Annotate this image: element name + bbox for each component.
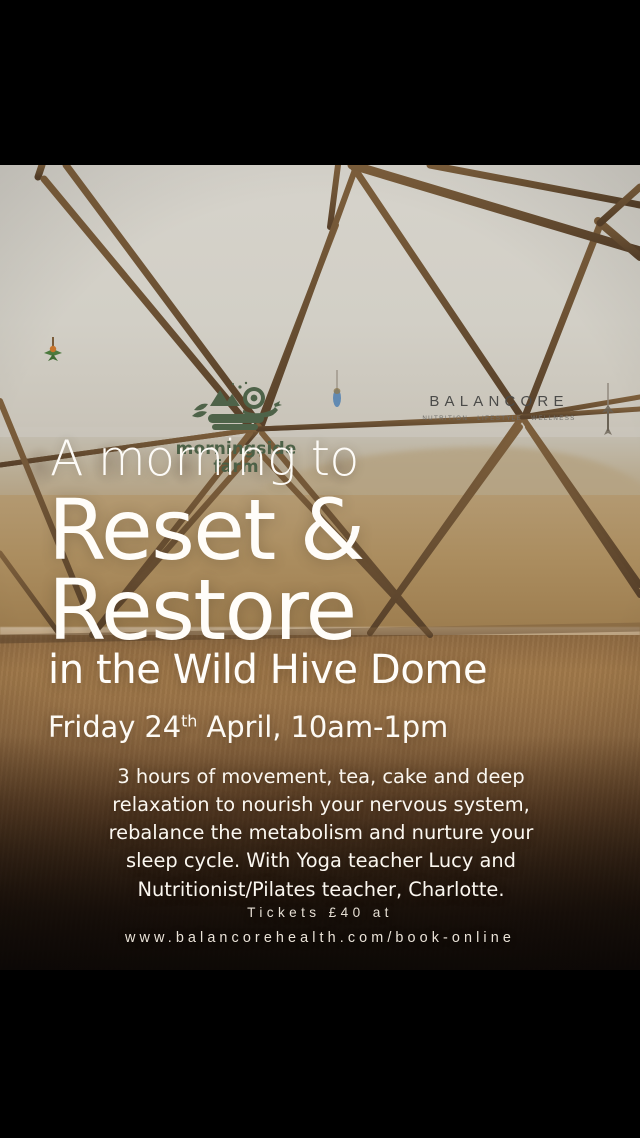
headline-kicker: A morning to <box>50 434 359 483</box>
tickets-price-line: Tickets £40 at <box>0 905 640 920</box>
date-ordinal: th <box>181 711 197 730</box>
letterbox-bar-bottom <box>0 970 640 1138</box>
balancore-tagline-item-2: WELLNESS <box>531 415 576 422</box>
snail-mountains-log-icon <box>184 380 288 436</box>
headline-line-1: Reset & <box>48 492 364 569</box>
headline-line-2: Restore <box>48 572 356 649</box>
balancore-tagline-item-1: LIFESTYLE <box>477 415 522 422</box>
event-description: 3 hours of movement, tea, cake and deep … <box>108 763 534 904</box>
booking-url[interactable]: www.balancorehealth.com/book-online <box>0 930 640 946</box>
dark-hanging-ornament <box>600 383 616 448</box>
green-orange-hanging-ornament <box>40 337 66 376</box>
date-suffix: April, 10am-1pm <box>197 710 448 744</box>
balancore-logo: BALANCORE NUTRITION LIFESTYLE WELLNESS <box>404 393 594 422</box>
balancore-wordmark: BALANCORE <box>404 393 594 410</box>
letterbox-bar-top <box>0 0 640 165</box>
balancore-tagline-item-0: NUTRITION <box>422 415 468 422</box>
balancore-tagline: NUTRITION LIFESTYLE WELLNESS <box>404 415 594 422</box>
poster-stage: morningside farm BALANCORE NUTRITION LIF… <box>0 0 640 1138</box>
venue-subtitle: in the Wild Hive Dome <box>48 650 487 690</box>
blue-tassel-ornament <box>330 370 344 423</box>
event-dateline: Friday 24th April, 10am-1pm <box>48 713 448 742</box>
date-prefix: Friday 24 <box>48 710 181 744</box>
